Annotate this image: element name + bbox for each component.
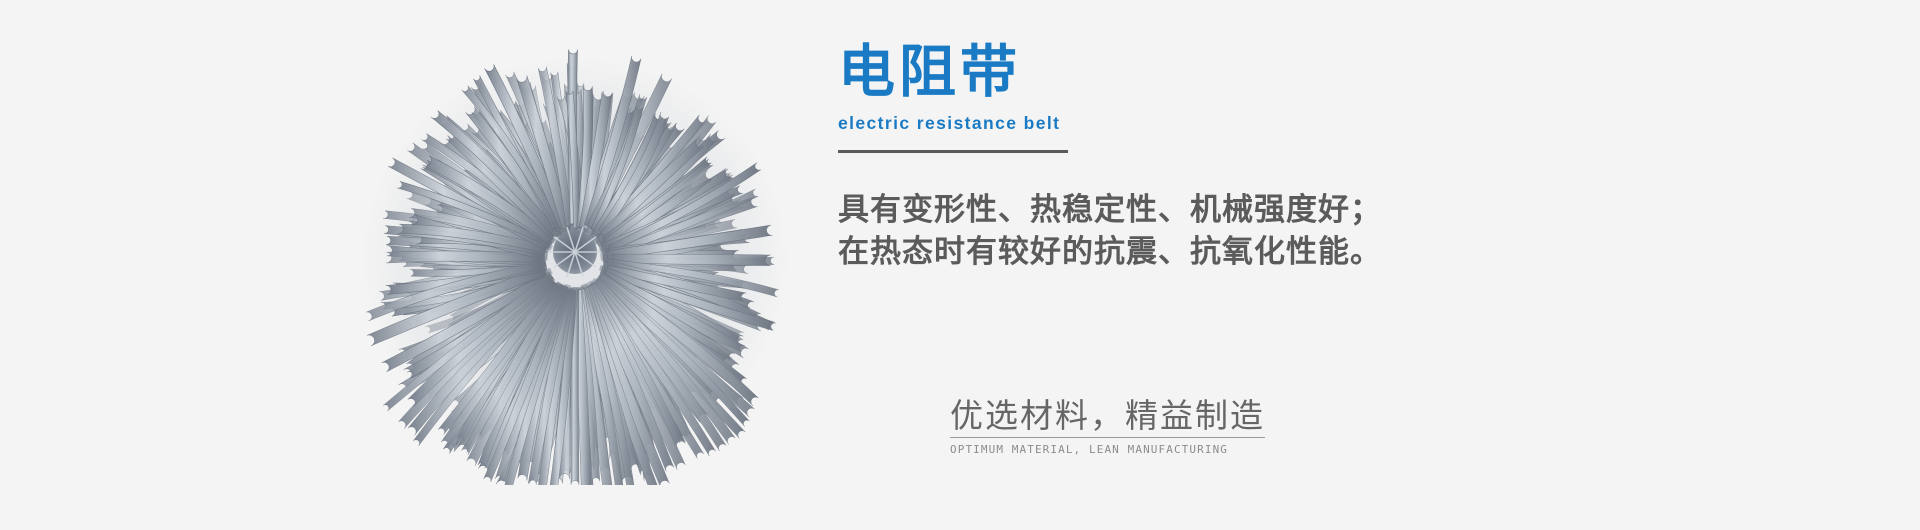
product-image — [355, 35, 795, 485]
title-divider — [838, 150, 1068, 153]
product-banner: 电阻带 electric resistance belt 具有变形性、热稳定性、… — [0, 0, 1920, 530]
text-column: 电阻带 electric resistance belt 具有变形性、热稳定性、… — [838, 44, 1738, 273]
page-title: 电阻带 — [838, 44, 1738, 101]
description-line-2: 在热态时有较好的抗震、抗氧化性能。 — [838, 231, 1738, 273]
tagline-block: 优选材料，精益制造 OPTIMUM MATERIAL, LEAN MANUFAC… — [950, 398, 1350, 456]
resistance-coil-burst — [360, 49, 790, 485]
product-description: 具有变形性、热稳定性、机械强度好； 在热态时有较好的抗震、抗氧化性能。 — [838, 189, 1738, 273]
tagline-english: OPTIMUM MATERIAL, LEAN MANUFACTURING — [950, 443, 1350, 456]
description-line-1: 具有变形性、热稳定性、机械强度好； — [838, 189, 1738, 231]
tagline-chinese: 优选材料，精益制造 — [950, 398, 1265, 438]
page-subtitle: electric resistance belt — [838, 113, 1738, 134]
